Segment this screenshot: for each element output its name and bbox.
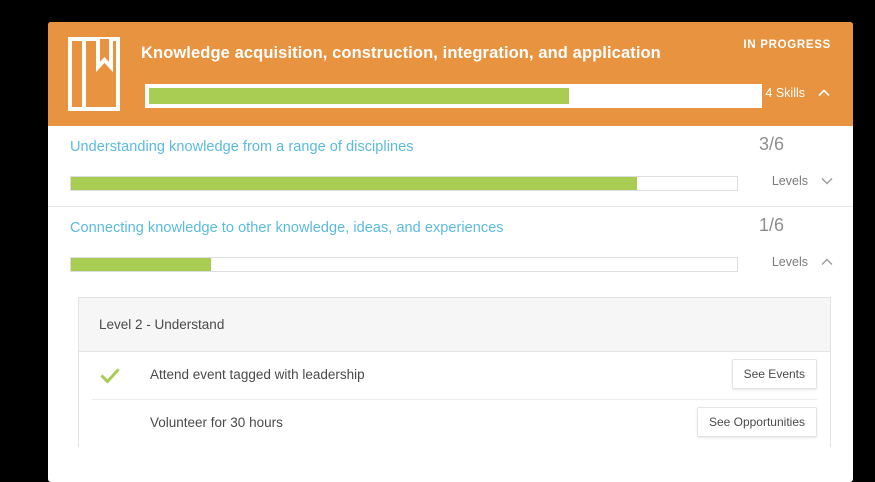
task-label: Attend event tagged with leadership (150, 367, 365, 382)
task-row: Attend event tagged with leadership See … (92, 352, 817, 400)
see-events-button[interactable]: See Events (732, 359, 817, 389)
skill-level-count: 3/6 (759, 134, 784, 155)
skills-count-label: 4 Skills (765, 86, 805, 100)
skill-progress-fill (71, 177, 637, 190)
levels-toggle[interactable]: Levels (772, 255, 834, 269)
skill-header: Understanding knowledge from a range of … (48, 126, 853, 170)
task-label: Volunteer for 30 hours (150, 415, 283, 430)
levels-label: Levels (772, 174, 808, 188)
card-header: Knowledge acquisition, construction, int… (48, 22, 853, 126)
overall-progress-fill (149, 88, 569, 104)
overall-progress-bar (145, 84, 762, 108)
skills-collapse-toggle[interactable]: 4 Skills (765, 86, 831, 100)
task-row: Volunteer for 30 hours See Opportunities (92, 400, 817, 447)
skill-progress-line: Levels (48, 170, 853, 206)
skill-progress-line: Levels (48, 251, 853, 287)
levels-label: Levels (772, 255, 808, 269)
page-title: Knowledge acquisition, construction, int… (141, 44, 661, 63)
skill-row: Understanding knowledge from a range of … (48, 126, 853, 207)
skill-header: Connecting knowledge to other knowledge,… (48, 207, 853, 251)
see-opportunities-button[interactable]: See Opportunities (697, 407, 817, 437)
skill-progress-card: Knowledge acquisition, construction, int… (48, 22, 853, 482)
screen: Knowledge acquisition, construction, int… (0, 0, 875, 456)
chevron-up-icon (820, 255, 834, 269)
skill-row: Connecting knowledge to other knowledge,… (48, 207, 853, 447)
level-panel-title: Level 2 - Understand (79, 298, 830, 352)
skill-progress-bar (70, 176, 738, 191)
skill-title-link[interactable]: Connecting knowledge to other knowledge,… (70, 220, 504, 236)
chevron-up-icon (817, 86, 831, 100)
levels-toggle[interactable]: Levels (772, 174, 834, 188)
skill-level-count: 1/6 (759, 215, 784, 236)
chevron-down-icon (820, 174, 834, 188)
book-bookmark-icon (68, 37, 120, 111)
skill-progress-bar (70, 257, 738, 272)
checkmark-icon (100, 366, 120, 386)
status-badge: IN PROGRESS (743, 39, 831, 51)
skill-title-link[interactable]: Understanding knowledge from a range of … (70, 139, 414, 155)
skill-progress-fill (71, 258, 211, 271)
level-panel: Level 2 - Understand Attend event tagged… (78, 297, 831, 447)
